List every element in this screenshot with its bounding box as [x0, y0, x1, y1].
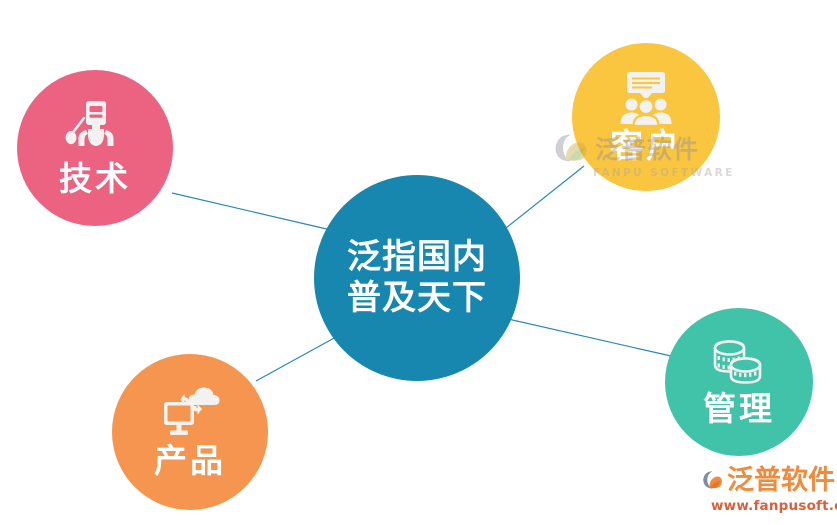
node-customer[interactable]: 客户 [572, 43, 720, 191]
brand-url-text: www.fanpusoft.com [711, 498, 835, 514]
center-node-label-line1: 泛指国内 [347, 237, 487, 278]
coins-stack-icon [707, 338, 771, 390]
customers-chat-icon [615, 71, 677, 127]
diagram-canvas: 泛指国内 普及天下 技术 [0, 0, 837, 525]
node-product-label: 产品 [154, 444, 226, 479]
node-tech-label: 技术 [59, 162, 131, 197]
brand-logo-mark [702, 466, 723, 494]
connector-center-to-product [256, 337, 336, 381]
node-customer-label: 客户 [610, 129, 682, 164]
brand-logo: 泛普软件 www.fanpusoft.com [702, 466, 835, 518]
node-tech[interactable]: 技术 [17, 70, 173, 226]
connector-center-to-manage [508, 319, 671, 356]
cloud-monitor-sync-icon [158, 386, 222, 442]
welder-icon [64, 100, 126, 156]
brand-cn-text: 泛普软件 [727, 467, 835, 494]
node-manage-label: 管理 [703, 392, 775, 427]
connector-center-to-tech [172, 193, 331, 230]
center-node[interactable]: 泛指国内 普及天下 [314, 175, 520, 381]
node-product[interactable]: 产品 [112, 354, 268, 510]
connector-center-to-customer [506, 166, 584, 228]
center-node-label-line2: 普及天下 [347, 278, 487, 319]
node-manage[interactable]: 管理 [665, 308, 813, 456]
